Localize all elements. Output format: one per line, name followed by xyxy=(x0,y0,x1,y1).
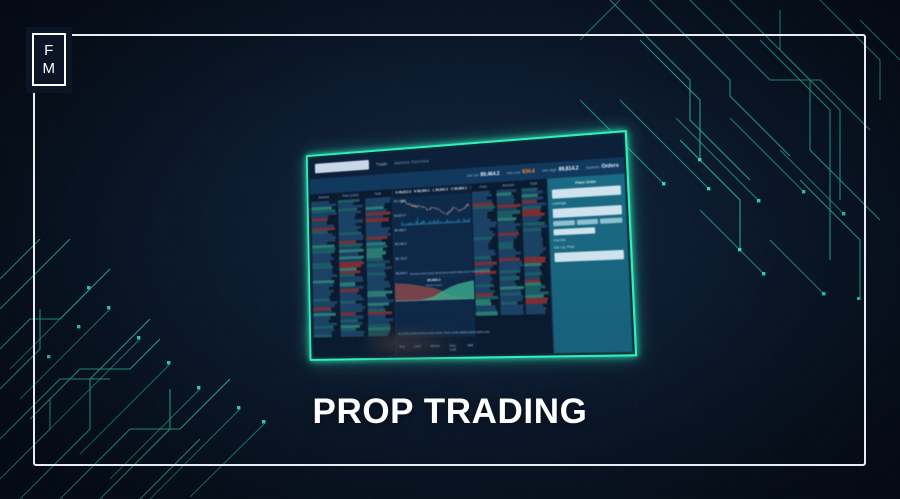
side-field-amount[interactable] xyxy=(552,185,621,198)
trading-monitor: Trade Markets Overview 24h Vol 89,464.2 … xyxy=(296,142,628,358)
search-input[interactable] xyxy=(315,160,369,173)
ticker-value: 89,814.2 xyxy=(558,165,578,172)
orderbook-rows xyxy=(522,187,551,314)
candlestick-chart[interactable]: 90,140.0 89,820.0 89,480.0 89,180.0 88,7… xyxy=(393,192,474,278)
fm-logo[interactable]: F M xyxy=(32,33,66,86)
order-type-tab[interactable]: Limit xyxy=(414,344,421,352)
percent-chips[interactable] xyxy=(553,217,622,226)
y-tick: 90,140.0 xyxy=(394,198,407,203)
y-tick: 89,820.0 xyxy=(394,213,407,218)
orderbook-column: Amount xyxy=(311,195,340,357)
ticker-label[interactable]: Markets xyxy=(586,165,600,170)
order-type-tab[interactable]: Sell xyxy=(468,343,474,351)
ticker-value: 89,464.2 xyxy=(480,171,499,178)
ticker-label: 24h Low xyxy=(507,170,521,175)
orderbook-rows xyxy=(311,200,339,338)
side-field-small[interactable] xyxy=(553,227,594,235)
column-header: Amount xyxy=(496,183,520,189)
column-header: Price xyxy=(472,184,495,189)
chip-25[interactable] xyxy=(553,220,575,226)
order-type-tabs[interactable]: BuyLimitMarketStop LimitSell xyxy=(399,343,473,352)
x-tick: 13:00 xyxy=(438,271,445,275)
ohlc-close: C 89,684.1 xyxy=(451,186,467,191)
order-type-tab[interactable]: Stop Limit xyxy=(449,344,458,352)
x-tick: 12:30 xyxy=(431,271,438,275)
orderbook-row xyxy=(341,334,364,338)
nav-item-markets[interactable]: Markets Overview xyxy=(394,158,429,165)
column-header: Amount xyxy=(311,195,336,200)
depth-x-tick: 91,200 xyxy=(481,330,490,336)
column-header: Price (USD) xyxy=(338,193,364,198)
chip-50[interactable] xyxy=(577,219,599,225)
column-header: Total xyxy=(365,191,391,197)
chart-y-axis: 90,140.0 89,820.0 89,480.0 89,180.0 88,7… xyxy=(394,196,409,277)
market-depth-chart[interactable]: 89,684.2 Market Depth 88,20088,50088,800… xyxy=(395,275,476,338)
x-tick: 18:30 xyxy=(475,270,483,274)
x-tick: 14:30 xyxy=(446,271,453,275)
ticker-item: 24h Low 834.4 xyxy=(506,168,534,176)
orderbook-row xyxy=(526,310,545,314)
ticker-label: 24h Vol xyxy=(467,173,479,178)
side-submit-button[interactable] xyxy=(554,250,624,262)
ticker-item: Markets Orders xyxy=(586,163,619,171)
y-tick: 89,180.0 xyxy=(395,242,408,247)
y-tick: 88,720.0 xyxy=(395,257,408,262)
x-tick: 15:00 xyxy=(453,270,460,274)
order-type-tab[interactable]: Market xyxy=(430,344,440,352)
x-tick: 17:00 xyxy=(467,270,475,274)
ticker-item: 24h High 89,814.2 xyxy=(542,165,579,174)
ticker-item: 24h Vol 89,464.2 xyxy=(467,171,500,179)
chart-column: O 89,812.3 H 89,964.1 L 89,502.2 C 89,68… xyxy=(393,184,477,356)
orderbook-rows xyxy=(365,197,395,337)
orderbook-right[interactable]: Price Amount Total xyxy=(471,179,555,355)
side-field-leverage[interactable] xyxy=(553,205,622,218)
order-type-tab[interactable]: Buy xyxy=(399,345,404,353)
ticker-value[interactable]: Orders xyxy=(601,163,619,170)
nav-item-trade[interactable]: Trade xyxy=(376,161,387,167)
column-header: Total xyxy=(521,181,545,187)
ticker-label: 24h High xyxy=(542,168,557,173)
orderbook-row xyxy=(314,334,332,337)
chip-100[interactable] xyxy=(600,217,622,223)
orderbook-column: Total xyxy=(365,191,395,356)
orderbook-rows xyxy=(497,188,525,314)
orderbook-rows xyxy=(472,190,500,315)
order-side-panel[interactable]: Place Order Leverage Fee Est. Es xyxy=(547,174,632,354)
dashboard-body: Amount Price (USD) Total xyxy=(310,174,632,357)
trading-dashboard-screen[interactable]: Trade Markets Overview 24h Vol 89,464.2 … xyxy=(310,134,633,356)
logo-letter-m: M xyxy=(43,60,56,78)
orderbook-column: Price (USD) xyxy=(338,193,367,357)
fee-label: Fee Est. xyxy=(554,235,623,242)
ohlc-low: L 89,502.2 xyxy=(433,188,449,193)
page-title: PROP TRADING xyxy=(0,392,900,432)
y-tick: 89,480.0 xyxy=(395,228,408,233)
y-tick: 88,440.0 xyxy=(396,272,409,276)
ohlc-open: O 89,812.3 xyxy=(395,190,411,195)
orderbook-row xyxy=(368,333,388,336)
x-tick: 19:00 xyxy=(482,269,490,273)
ohlc-high: H 89,964.1 xyxy=(414,189,430,194)
orderbook-rows xyxy=(338,198,367,337)
logo-letter-f: F xyxy=(44,42,54,60)
monitor-bezel: Trade Markets Overview 24h Vol 89,464.2 … xyxy=(306,130,637,361)
orderbook-left[interactable]: Amount Price (USD) Total xyxy=(310,189,397,357)
orderbook-row xyxy=(501,311,524,315)
circuit-bottom-left xyxy=(0,239,300,499)
x-tick: 10:30 xyxy=(417,272,424,276)
orderbook-row xyxy=(476,312,497,316)
trade-entry-panel[interactable]: BuyLimitMarketStop LimitSell Available 0… xyxy=(396,336,476,355)
liq-price-label: Est. Liq. Price xyxy=(554,242,623,249)
x-tick: 16:30 xyxy=(460,270,467,274)
ticker-value: 834.4 xyxy=(522,168,535,175)
promo-banner: Trade Markets Overview 24h Vol 89,464.2 … xyxy=(0,0,900,499)
